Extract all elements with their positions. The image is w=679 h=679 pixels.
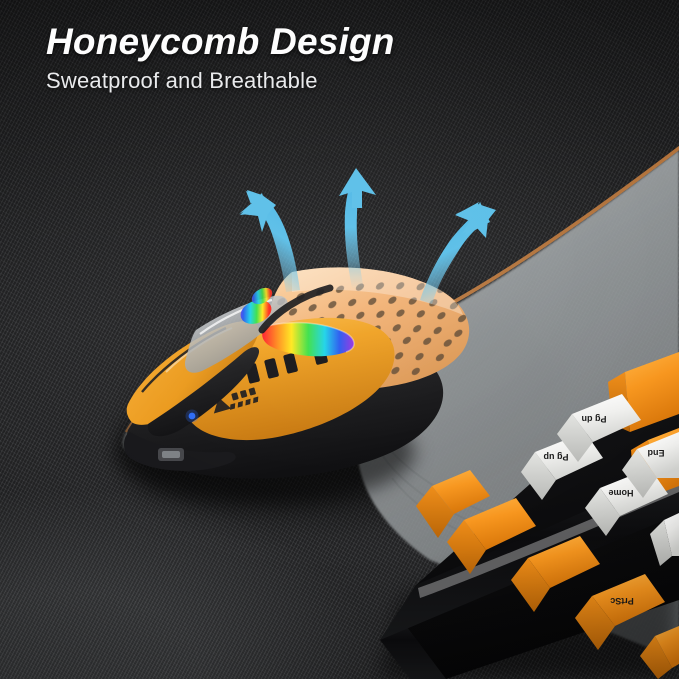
headline-block: Honeycomb Design Sweatproof and Breathab… xyxy=(46,22,646,94)
page-title: Honeycomb Design xyxy=(46,22,646,61)
product-marketing-image: Pg up Pg dn Home End xyxy=(0,0,679,679)
image-vignette xyxy=(0,0,679,679)
page-subtitle: Sweatproof and Breathable xyxy=(46,68,646,94)
